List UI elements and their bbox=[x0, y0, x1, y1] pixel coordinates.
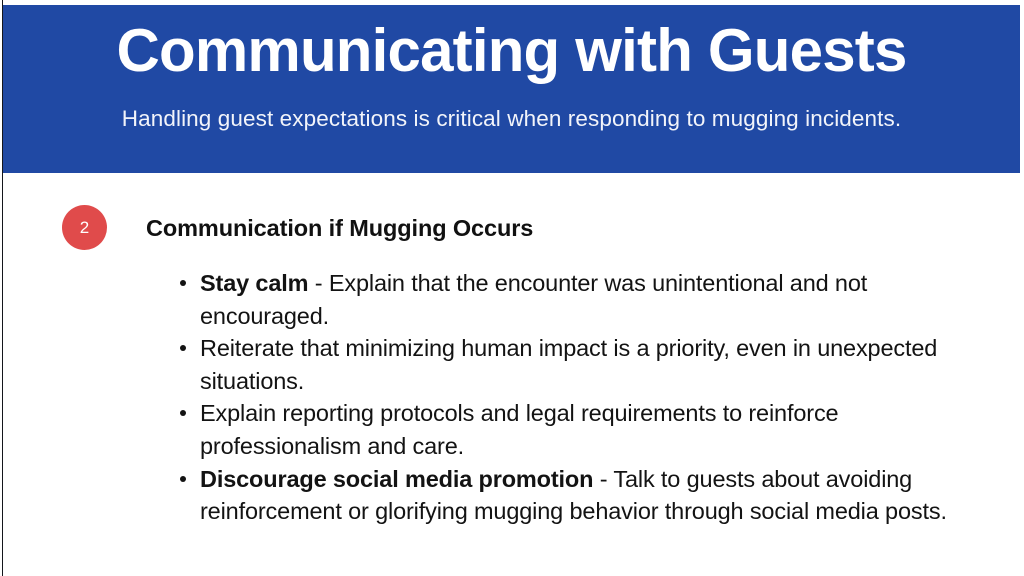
section-block: 2 Communication if Mugging Occurs Stay c… bbox=[62, 205, 996, 516]
list-item: Reiterate that minimizing human impact i… bbox=[178, 332, 968, 397]
header-banner: Communicating with Guests Handling guest… bbox=[3, 5, 1020, 173]
list-item-separator: - bbox=[308, 270, 328, 296]
section-header-row: 2 Communication if Mugging Occurs bbox=[62, 205, 996, 255]
list-item-separator: - bbox=[593, 466, 613, 492]
slide-canvas: Communicating with Guests Handling guest… bbox=[0, 0, 1024, 576]
bullet-dot-icon bbox=[180, 280, 186, 286]
section-heading: Communication if Mugging Occurs bbox=[146, 212, 533, 244]
bullet-dot-icon bbox=[180, 476, 186, 482]
list-item-lead: Stay calm bbox=[200, 270, 308, 296]
page-title: Communicating with Guests bbox=[3, 15, 1020, 87]
bullet-list: Stay calm - Explain that the encounter w… bbox=[178, 267, 968, 528]
list-item: Discourage social media promotion - Talk… bbox=[178, 463, 968, 528]
bullet-dot-icon bbox=[180, 410, 186, 416]
list-item-text: Reiterate that minimizing human impact i… bbox=[200, 335, 937, 394]
list-item-text: Explain reporting protocols and legal re… bbox=[200, 400, 838, 459]
slide-body: 2 Communication if Mugging Occurs Stay c… bbox=[3, 173, 1020, 576]
list-item: Explain reporting protocols and legal re… bbox=[178, 397, 968, 462]
page-subtitle: Handling guest expectations is critical … bbox=[3, 103, 1020, 135]
list-item-lead: Discourage social media promotion bbox=[200, 466, 593, 492]
list-item: Stay calm - Explain that the encounter w… bbox=[178, 267, 968, 332]
left-edge-rule bbox=[2, 0, 3, 576]
bullet-dot-icon bbox=[180, 345, 186, 351]
section-number-label: 2 bbox=[80, 219, 89, 237]
section-number-badge: 2 bbox=[62, 205, 107, 250]
